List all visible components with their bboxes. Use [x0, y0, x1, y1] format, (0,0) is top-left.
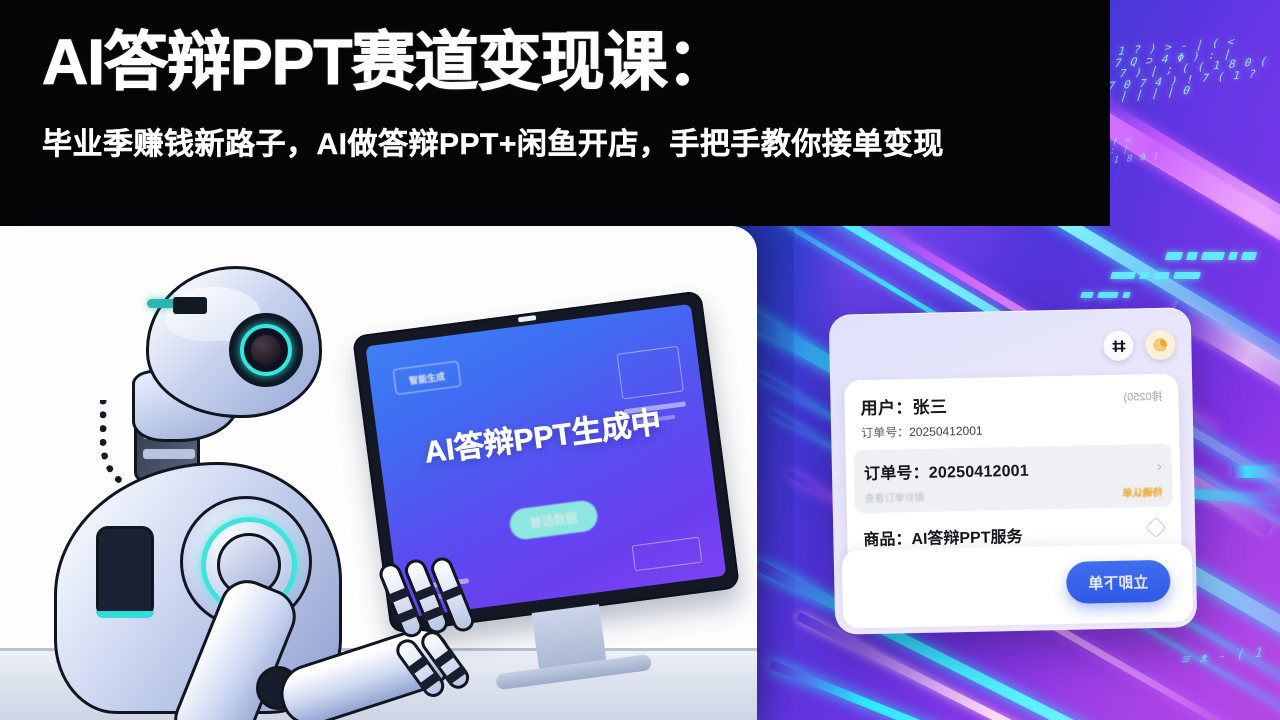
screen-deco-box: [616, 346, 683, 400]
avatar-icon[interactable]: [1145, 330, 1176, 361]
robot-eye: [229, 313, 303, 387]
order-number-row[interactable]: 订单号：20250412001 查看订单详情 › 待确认单: [854, 444, 1173, 514]
user-line: 用户：张三: [860, 392, 982, 420]
robot-chest-panel: [96, 526, 154, 618]
user-order-line: 订单号：20250412001: [861, 422, 983, 442]
illustration-panel: 智能生成 AI答辩PPT生成中 普话数据: [0, 226, 757, 720]
order-card: 用户：张三 订单号：20250412001 排0250) 订单号：2025041…: [829, 307, 1198, 635]
product-label: 商品：: [863, 531, 911, 549]
page-subtitle: 毕业季赚钱新路子，AI做答辩PPT+闲鱼开店，手把手教你接单变现: [42, 119, 1110, 163]
card-top-actions: [1103, 330, 1176, 362]
neon-trace: [1232, 466, 1280, 478]
robot-character: [28, 250, 458, 702]
page-title: AI答辩PPT赛道变现课：: [42, 30, 1110, 95]
robot-head: [146, 266, 322, 418]
order-sheet: 用户：张三 订单号：20250412001 排0250) 订单号：2025041…: [844, 374, 1182, 571]
user-badge-ghost: 排0250): [1123, 388, 1162, 405]
robot-head-vent: [173, 297, 207, 314]
webcam-icon: [518, 315, 536, 322]
chevron-right-icon[interactable]: ›: [1157, 458, 1162, 475]
card-footer: 立即下单: [842, 543, 1194, 628]
filter-icon[interactable]: [1103, 330, 1134, 361]
order-status-badge: 待确认单: [1122, 484, 1162, 500]
user-order-value: 20250412001: [909, 424, 983, 440]
header-bar: AI答辩PPT赛道变现课： 毕业季赚钱新路子，AI做答辩PPT+闲鱼开店，手把手…: [0, 0, 1110, 226]
screen-deco-box: [632, 537, 703, 572]
order-number-value: 20250412001: [929, 463, 1029, 482]
order-number-subtext: 查看订单详情: [864, 484, 1162, 505]
poster-root: < 1 ? ) > - | ( < 1 7 Q ⊃ 4 Φ ) : | | 7 …: [0, 0, 1280, 720]
user-row: 用户：张三 订单号：20250412001 排0250): [860, 388, 1163, 441]
product-value: AI答辩PPT服务: [911, 529, 1022, 548]
order-cta-button[interactable]: 立即下单: [1066, 560, 1171, 604]
order-number-line: 订单号：20250412001: [864, 454, 1162, 484]
user-label: 用户：: [860, 398, 912, 418]
screen-action-button[interactable]: 普话数据: [508, 499, 599, 541]
user-order-label: 订单号：: [861, 425, 909, 440]
robot-pupil: [251, 335, 281, 365]
user-value: 张三: [912, 397, 947, 417]
order-number-label: 订单号：: [864, 465, 929, 483]
